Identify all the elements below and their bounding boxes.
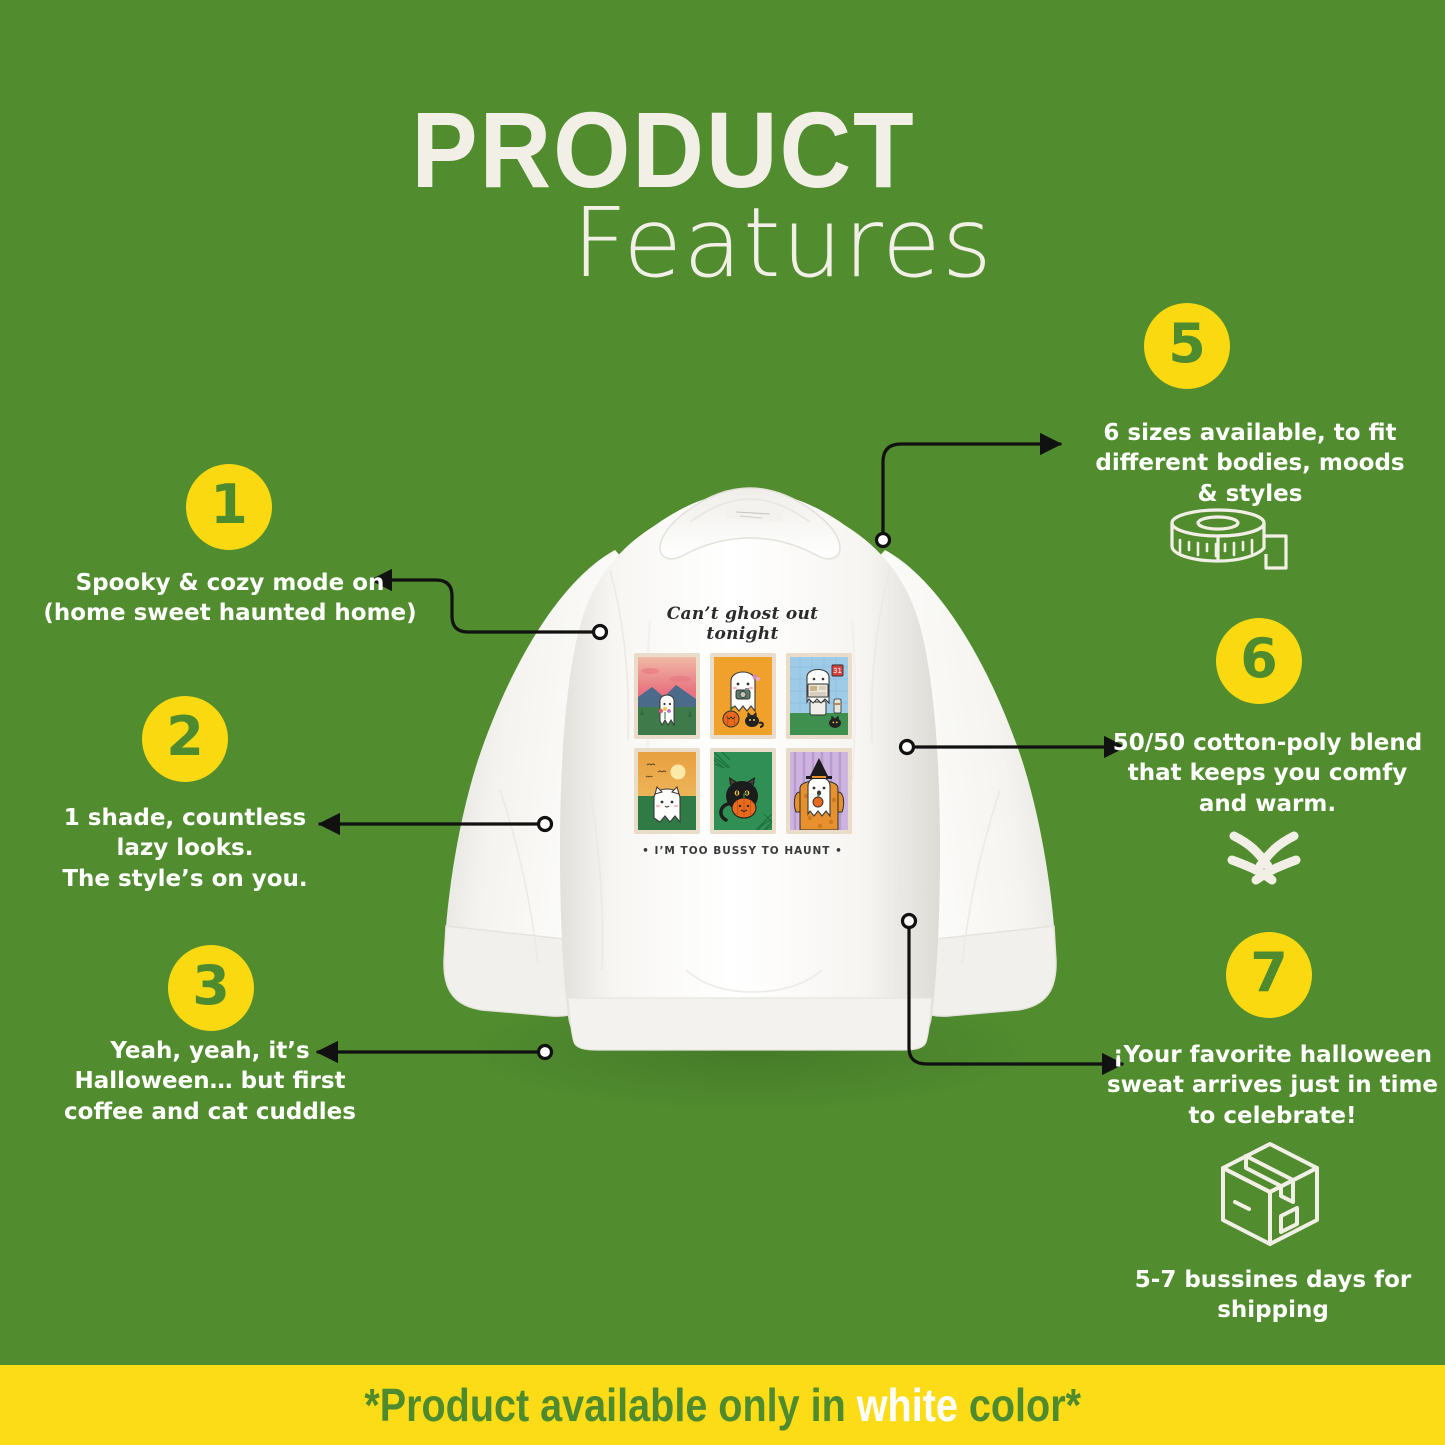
title-features: Features [120,195,1445,291]
stamp-ghost-with-camera-pumpkin [710,653,776,739]
stamp-ghost-with-flowers-sunset [634,653,700,739]
feature-text-6: 50/50 cotton-poly blend that keeps you c… [1090,728,1445,819]
stamp-ghost-witch-in-armchair [786,748,852,834]
badge-3: 3 [168,945,254,1031]
availability-banner-text: *Product available only in white color* [364,1378,1081,1432]
availability-banner: *Product available only in white color* [0,1365,1445,1445]
shipping-caption: 5-7 bussines days for shipping [1098,1265,1445,1326]
svg-text:31: 31 [833,667,842,675]
feature-text-1: Spooky & cozy mode on (home sweet haunte… [20,568,440,629]
banner-text-before: *Product available only in [364,1379,856,1431]
feature-text-7: ¡Your favorite halloween sweat arrives j… [1100,1040,1445,1131]
garment-print-design: Can’t ghost out tonight [630,604,855,859]
banner-text-after: color* [958,1379,1081,1431]
stamp-black-cat-with-pumpkin [710,748,776,834]
stamp-grid: 31 [630,653,855,834]
woven-threads-icon [1224,822,1304,894]
stamp-ghost-cat-moon-night [634,748,700,834]
stamp-ghost-reading-newspaper-toilet: 31 [786,653,852,739]
badge-6: 6 [1216,618,1302,704]
badge-2: 2 [142,696,228,782]
banner-highlight-white: white [857,1379,958,1431]
feature-text-2: 1 shade, countless lazy looks. The style… [0,803,385,894]
shipping-box-icon [1205,1128,1335,1258]
feature-text-5: 6 sizes available, to fit different bodi… [1055,418,1445,509]
feature-text-3: Yeah, yeah, it’s Halloween… but first co… [10,1036,410,1127]
badge-1: 1 [186,464,272,550]
badge-5: 5 [1144,303,1230,389]
product-features-poster: PRODUCT Features [0,0,1445,1445]
measuring-tape-icon [1158,506,1308,580]
print-title: Can’t ghost out tonight [630,604,855,644]
badge-7: 7 [1226,932,1312,1018]
page-title: PRODUCT Features [0,100,1445,291]
title-product: PRODUCT [0,100,1382,199]
print-footer: • I’M TOO BUSSY TO HAUNT • [630,845,855,857]
